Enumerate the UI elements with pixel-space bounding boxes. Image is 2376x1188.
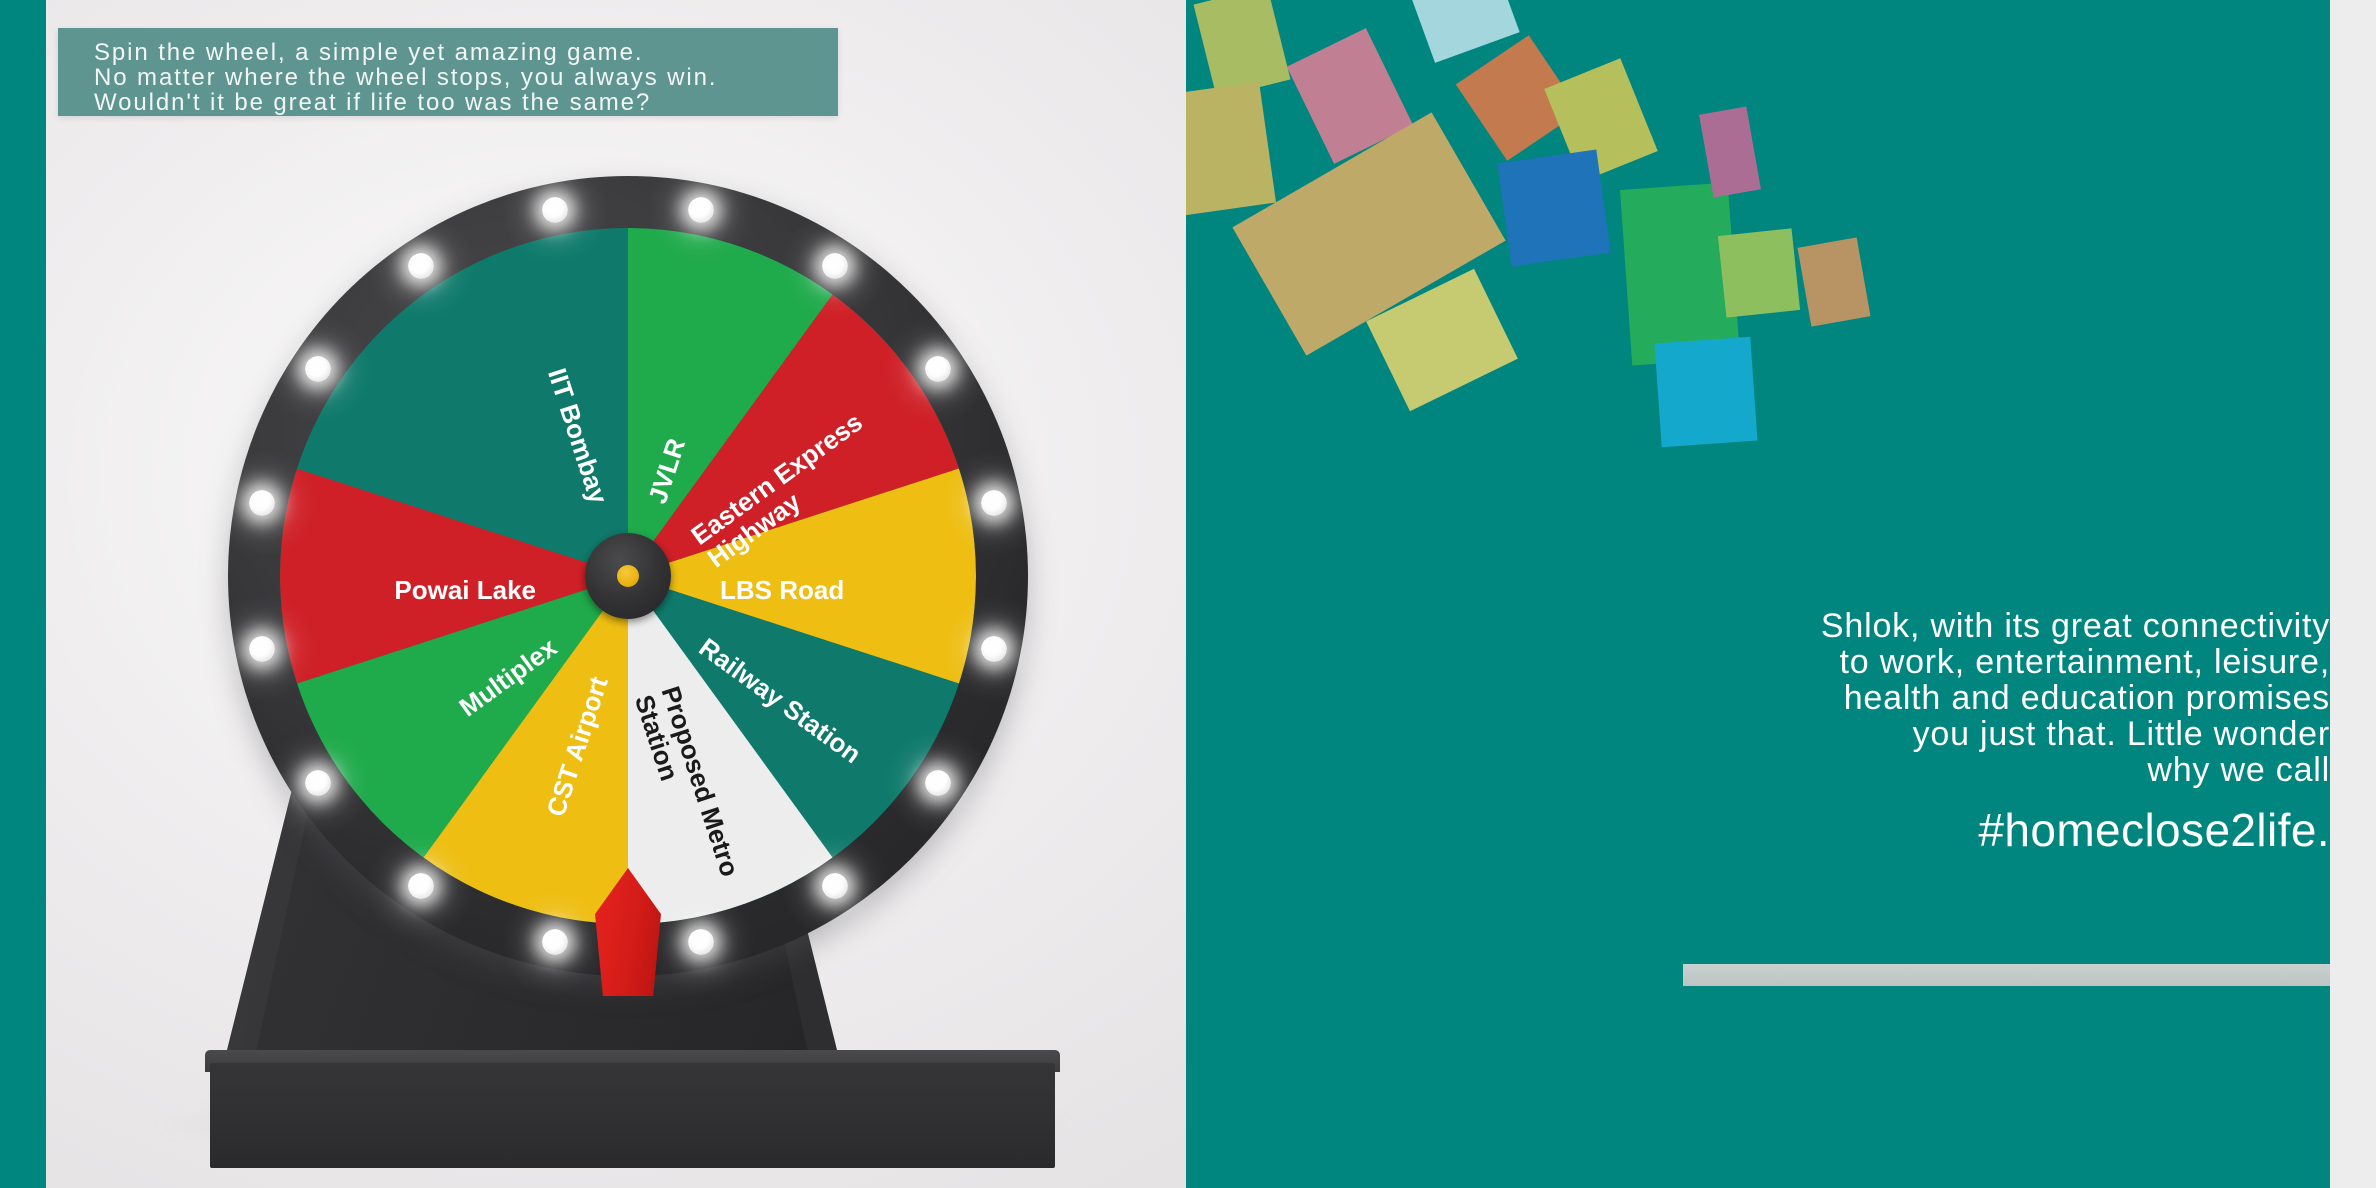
wheel-bulb-icon xyxy=(305,770,331,796)
decorative-tile xyxy=(1186,82,1276,217)
underline-bar xyxy=(1683,964,2330,986)
poster-canvas: Spin the wheel, a simple yet amazing gam… xyxy=(0,0,2376,1188)
decorative-tile xyxy=(1654,337,1757,447)
decorative-tile xyxy=(1497,150,1611,267)
copy-line-5: why we call xyxy=(1620,752,2330,788)
wheel-bulb-icon xyxy=(688,929,714,955)
copy-line-1: Shlok, with its great connectivity xyxy=(1620,608,2330,644)
wheel-bulb-icon xyxy=(981,490,1007,516)
headline-line-2: No matter where the wheel stops, you alw… xyxy=(94,65,838,90)
copy-line-3: health and education promises xyxy=(1620,680,2330,716)
headline-box: Spin the wheel, a simple yet amazing gam… xyxy=(58,28,838,116)
wheel-bulb-icon xyxy=(925,356,951,382)
wheel-bulb-icon xyxy=(305,356,331,382)
wheel-bulb-icon xyxy=(981,636,1007,662)
wheel-bulb-icon xyxy=(822,253,848,279)
wheel-bulb-icon xyxy=(542,929,568,955)
wheel-hub-dot xyxy=(617,565,639,587)
copy-line-2: to work, entertainment, leisure, xyxy=(1620,644,2330,680)
left-accent-strip xyxy=(0,0,46,1188)
stand-base xyxy=(210,1063,1055,1168)
wheel-hub xyxy=(585,533,671,619)
headline-line-1: Spin the wheel, a simple yet amazing gam… xyxy=(94,40,838,65)
decorative-tile xyxy=(1798,237,1871,326)
wheel-bulb-icon xyxy=(408,873,434,899)
hashtag: #homeclose2life. xyxy=(1620,800,2330,860)
right-edge-strip xyxy=(2330,0,2376,1188)
prize-wheel[interactable]: IIT BombayJVLREastern Express HighwayLBS… xyxy=(228,176,1028,976)
decorative-tile xyxy=(1718,228,1800,317)
right-copy-block: Shlok, with its great connectivity to wo… xyxy=(1620,608,2330,860)
copy-line-4: you just that. Little wonder xyxy=(1620,716,2330,752)
wheel-bulb-icon xyxy=(408,253,434,279)
decorative-tile-pattern xyxy=(1186,0,2330,520)
headline-line-3: Wouldn't it be great if life too was the… xyxy=(94,90,838,115)
wheel-bulb-icon xyxy=(249,636,275,662)
wheel-bulb-icon xyxy=(688,197,714,223)
